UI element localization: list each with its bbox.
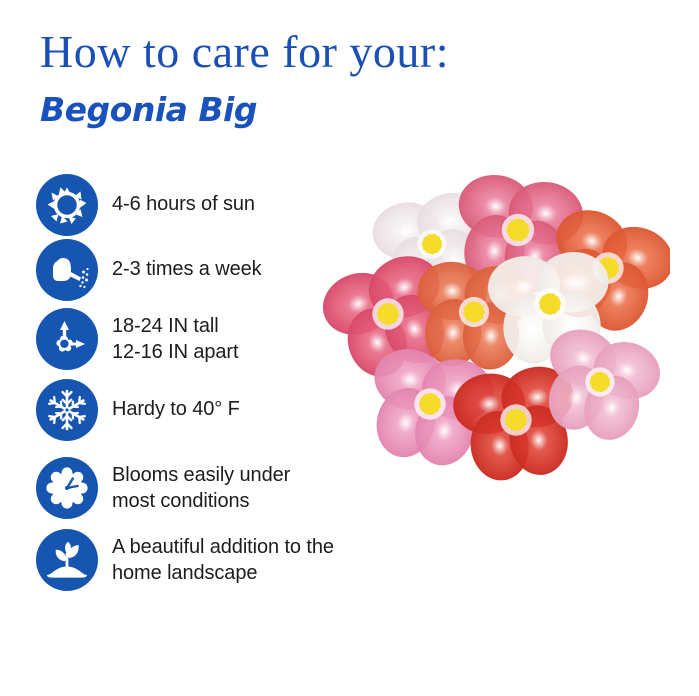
- care-label-hardiness: Hardy to 40° F: [112, 397, 240, 423]
- clock-icon: [36, 457, 98, 519]
- care-label-watering: 2-3 times a week: [112, 257, 262, 283]
- care-line: A beautiful addition to the: [112, 534, 334, 560]
- care-line: most conditions: [112, 488, 290, 514]
- plant-name: Begonia Big: [40, 92, 560, 128]
- height-spacing-icon: [36, 308, 98, 370]
- care-line: Blooms easily under: [112, 462, 290, 488]
- care-label-bloom-time: Blooms easily under most conditions: [112, 462, 290, 514]
- care-line: 18-24 IN tall: [112, 313, 238, 339]
- care-line: Hardy to 40° F: [112, 397, 240, 423]
- care-line: 12-16 IN apart: [112, 339, 238, 365]
- care-label-landscape-use: A beautiful addition to the home landsca…: [112, 534, 334, 586]
- begonia-flower-cluster: [322, 172, 670, 484]
- page-title: How to care for your:: [40, 28, 560, 76]
- heading-block: How to care for your: Begonia Big: [40, 28, 560, 129]
- care-line: 4-6 hours of sun: [112, 192, 255, 218]
- seedling-icon: [36, 529, 98, 591]
- care-line: 2-3 times a week: [112, 257, 262, 283]
- care-label-sunlight: 4-6 hours of sun: [112, 192, 255, 218]
- care-row-landscape-use: A beautiful addition to the home landsca…: [36, 529, 416, 591]
- plant-care-infographic: How to care for your: Begonia Big: [0, 0, 699, 696]
- snowflake-icon: [36, 379, 98, 441]
- watering-can-icon: [36, 239, 98, 301]
- care-label-size-spacing: 18-24 IN tall 12-16 IN apart: [112, 313, 238, 365]
- sun-icon: [36, 174, 98, 236]
- care-line: home landscape: [112, 560, 334, 586]
